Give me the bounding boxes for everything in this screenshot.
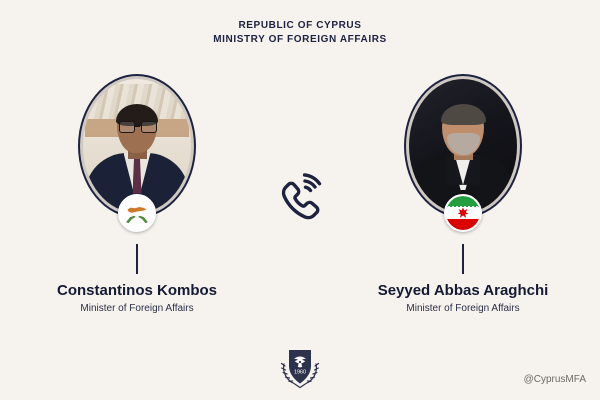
portrait-wrapper-left [78,74,196,218]
graphic-canvas: REPUBLIC OF CYPRUS MINISTRY OF FOREIGN A… [0,0,600,400]
person-card-right: Seyyed Abbas Araghchi Minister of Foreig… [348,74,578,315]
cyprus-coat-of-arms: 1960 [274,342,326,392]
person-title-left: Minister of Foreign Affairs [22,302,252,315]
header-line-ministry: MINISTRY OF FOREIGN AFFAIRS [0,33,600,47]
portrait-glasses-bridge [135,125,140,127]
header-line-republic: REPUBLIC OF CYPRUS [0,19,600,33]
connector-line-left [136,244,138,274]
connector-line-right [462,244,464,274]
portrait-glasses-left-lens [119,121,135,133]
portrait-glasses-right-lens [141,121,157,133]
portrait-hair-right [441,104,486,125]
portrait-constantinos-kombos [83,79,191,213]
cyprus-olive-branch-right [138,216,148,223]
person-name-left: Constantinos Kombos [22,282,252,300]
portrait-seyyed-abbas-araghchi [409,79,517,213]
cyprus-flag-badge [118,194,156,232]
cyprus-island-shape [127,206,146,214]
cyprus-flag-icon [120,196,154,230]
person-card-left: Constantinos Kombos Minister of Foreign … [22,74,252,315]
watermark-handle: @CyprusMFA [524,374,586,386]
iran-flag-icon [446,196,480,230]
iran-flag-kufic-bottom [448,219,478,221]
iran-flag-badge [444,194,482,232]
portrait-wrapper-right [404,74,522,218]
person-name-right: Seyyed Abbas Araghchi [348,282,578,300]
person-title-right: Minister of Foreign Affairs [348,302,578,315]
cyprus-olive-branch-left [126,216,136,223]
svg-text:1960: 1960 [294,370,306,376]
phone-call-icon [272,172,328,228]
header: REPUBLIC OF CYPRUS MINISTRY OF FOREIGN A… [0,19,600,47]
